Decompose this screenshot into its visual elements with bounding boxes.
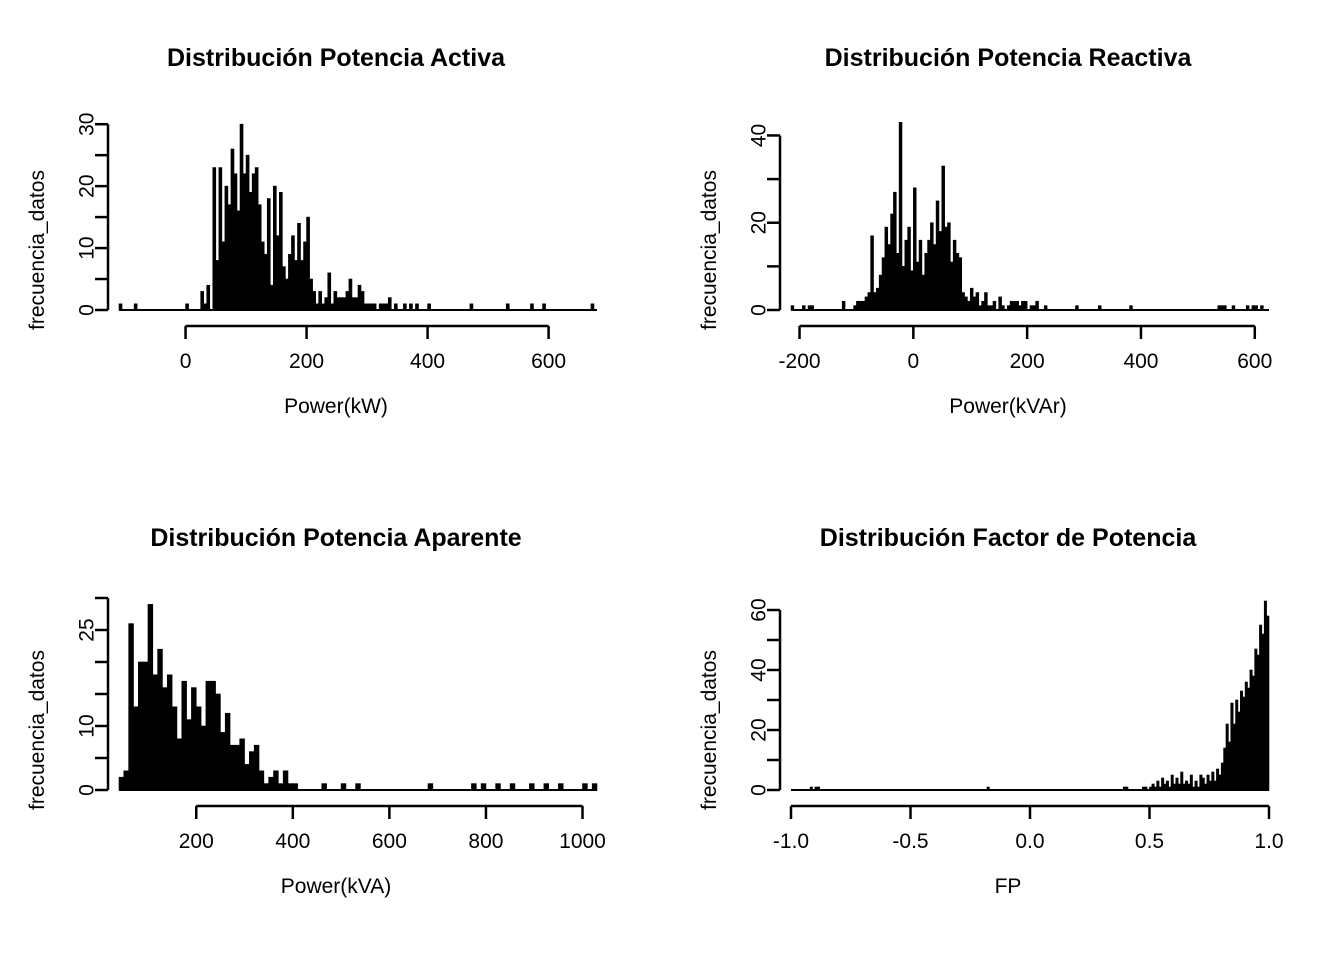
svg-text:20: 20 xyxy=(76,174,99,197)
panel-potencia-aparente: Distribución Potencia Aparente frecuenci… xyxy=(0,480,672,960)
svg-text:600: 600 xyxy=(531,350,566,373)
histogram-plot: 02040-2000200400600 xyxy=(672,0,1344,480)
svg-text:400: 400 xyxy=(275,830,310,853)
histogram-plot: 0204060-1.0-0.50.00.51.0 xyxy=(672,480,1344,960)
svg-text:0: 0 xyxy=(76,304,99,316)
svg-text:1000: 1000 xyxy=(559,830,606,853)
svg-text:40: 40 xyxy=(748,124,771,147)
panel-factor-de-potencia: Distribución Factor de Potencia frecuenc… xyxy=(672,480,1344,960)
svg-text:10: 10 xyxy=(76,236,99,259)
panel-potencia-activa: Distribución Potencia Activa frecuencia_… xyxy=(0,0,672,480)
svg-text:0.0: 0.0 xyxy=(1015,830,1044,853)
histogram-plot: 010252004006008001000 xyxy=(0,480,672,960)
svg-text:1.0: 1.0 xyxy=(1254,830,1283,853)
svg-text:30: 30 xyxy=(76,113,99,136)
svg-text:0: 0 xyxy=(180,350,192,373)
svg-text:400: 400 xyxy=(1123,350,1158,373)
svg-text:0: 0 xyxy=(748,304,771,316)
svg-text:0: 0 xyxy=(908,350,920,373)
svg-text:200: 200 xyxy=(289,350,324,373)
panel-potencia-reactiva: Distribución Potencia Reactiva frecuenci… xyxy=(672,0,1344,480)
svg-text:40: 40 xyxy=(748,658,771,681)
svg-text:20: 20 xyxy=(748,718,771,741)
svg-text:10: 10 xyxy=(76,714,99,737)
svg-text:600: 600 xyxy=(372,830,407,853)
svg-text:0: 0 xyxy=(76,784,99,796)
svg-text:800: 800 xyxy=(468,830,503,853)
svg-text:0: 0 xyxy=(748,784,771,796)
svg-text:60: 60 xyxy=(748,598,771,621)
svg-text:0.5: 0.5 xyxy=(1135,830,1164,853)
svg-text:-0.5: -0.5 xyxy=(892,830,928,853)
svg-text:400: 400 xyxy=(410,350,445,373)
svg-text:600: 600 xyxy=(1237,350,1272,373)
svg-text:-1.0: -1.0 xyxy=(773,830,809,853)
svg-text:-200: -200 xyxy=(779,350,821,373)
figure-panel-grid: Distribución Potencia Activa frecuencia_… xyxy=(0,0,1344,960)
svg-text:25: 25 xyxy=(76,618,99,641)
svg-text:200: 200 xyxy=(1010,350,1045,373)
svg-text:20: 20 xyxy=(748,211,771,234)
histogram-plot: 01020300200400600 xyxy=(0,0,672,480)
svg-text:200: 200 xyxy=(179,830,214,853)
